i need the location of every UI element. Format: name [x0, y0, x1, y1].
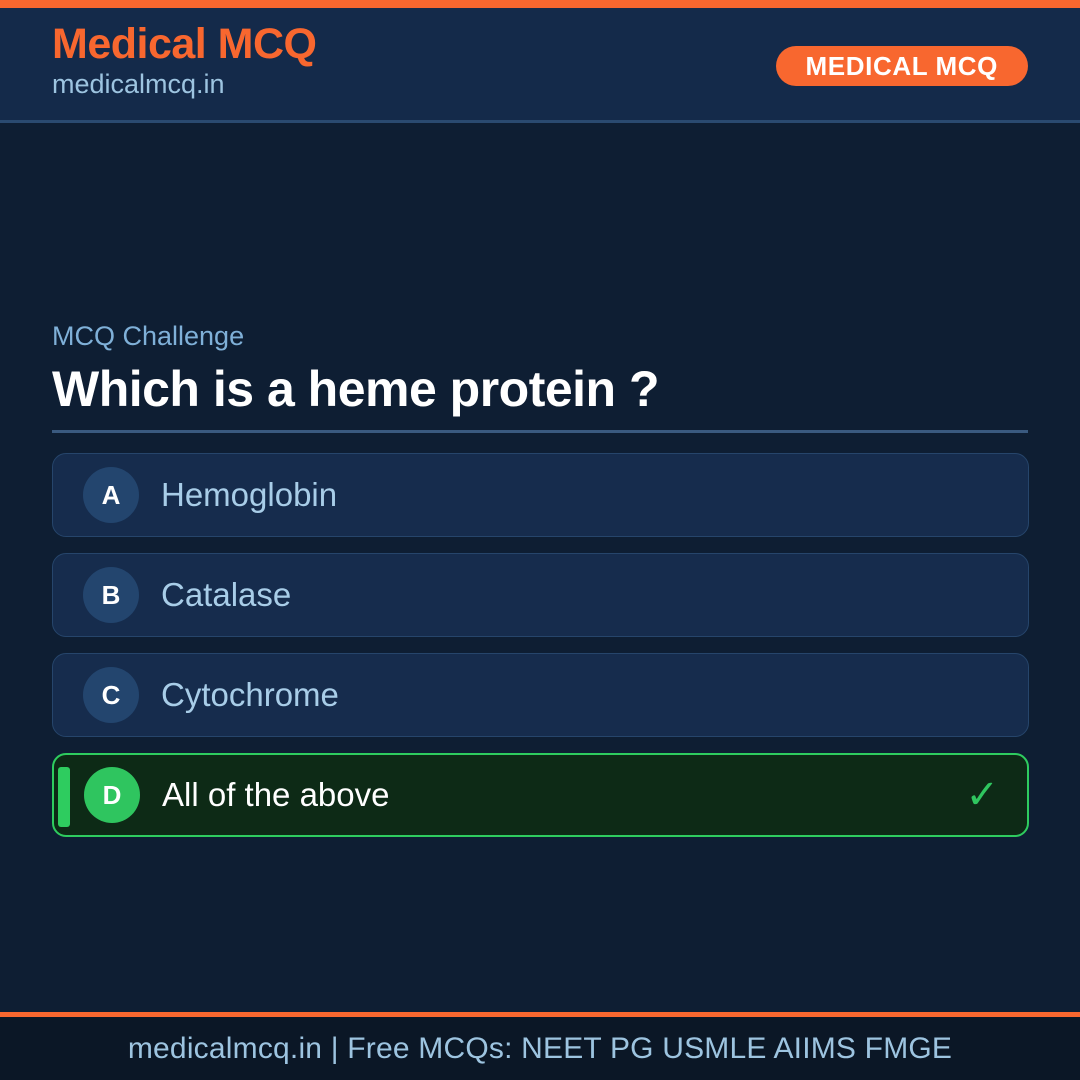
header-bar: Medical MCQ medicalmcq.in MEDICAL MCQ	[0, 8, 1080, 120]
question-text: Which is a heme protein ?	[52, 360, 1028, 419]
option-letter-badge: A	[83, 467, 139, 523]
option-label: All of the above	[162, 777, 390, 813]
footer-bar: medicalmcq.in | Free MCQs: NEET PG USMLE…	[0, 1017, 1080, 1080]
check-icon: ✓	[965, 775, 999, 815]
option-label: Catalase	[161, 577, 291, 613]
brand: Medical MCQ medicalmcq.in	[52, 22, 317, 100]
question-block: MCQ Challenge Which is a heme protein ?	[52, 320, 1028, 419]
question-divider	[52, 430, 1028, 433]
header-badge-pill: MEDICAL MCQ	[776, 46, 1028, 86]
option-letter: C	[102, 682, 121, 708]
option-letter: B	[102, 582, 121, 608]
option-letter: A	[102, 482, 121, 508]
brand-title: Medical MCQ	[52, 22, 317, 67]
option-b[interactable]: B Catalase ✓	[52, 553, 1029, 637]
question-eyebrow: MCQ Challenge	[52, 320, 1028, 352]
header-badge-label: MEDICAL MCQ	[806, 51, 998, 82]
option-letter-badge: D	[84, 767, 140, 823]
top-accent-bar	[0, 0, 1080, 8]
footer-text: medicalmcq.in | Free MCQs: NEET PG USMLE…	[128, 1032, 952, 1066]
brand-subtitle: medicalmcq.in	[52, 69, 317, 100]
option-a[interactable]: A Hemoglobin ✓	[52, 453, 1029, 537]
option-letter-badge: C	[83, 667, 139, 723]
option-label: Cytochrome	[161, 677, 339, 713]
option-c[interactable]: C Cytochrome ✓	[52, 653, 1029, 737]
options-list: A Hemoglobin ✓ B Catalase ✓ C Cytochrome…	[52, 453, 1029, 853]
header-divider	[0, 120, 1080, 123]
option-letter: D	[103, 782, 122, 808]
option-letter-badge: B	[83, 567, 139, 623]
option-accent-bar	[58, 767, 70, 827]
mcq-card: Medical MCQ medicalmcq.in MEDICAL MCQ MC…	[0, 0, 1080, 1080]
option-label: Hemoglobin	[161, 477, 337, 513]
option-d[interactable]: D All of the above ✓	[52, 753, 1029, 837]
